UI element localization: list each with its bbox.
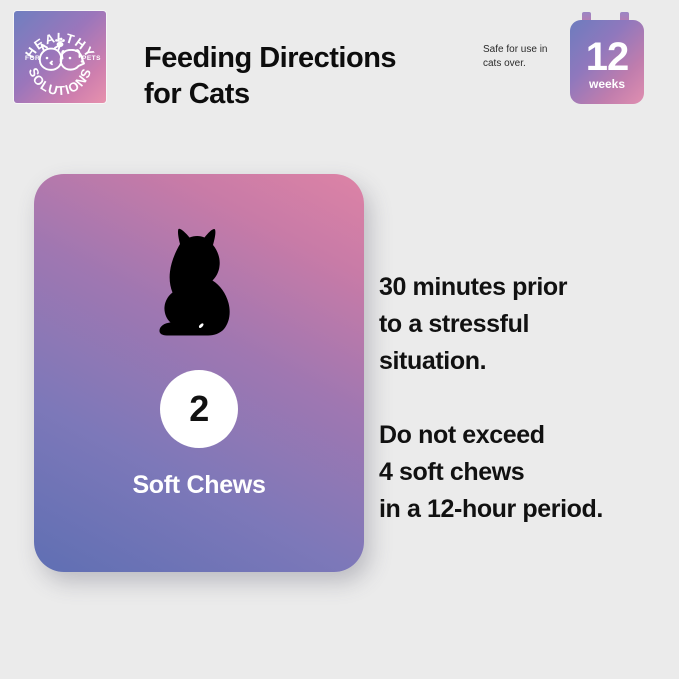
age-badge: 12 weeks [570, 12, 644, 104]
page-header: HEALTHY SOLUTIONS FOR PETS [0, 0, 679, 125]
svg-text:FOR: FOR [25, 55, 40, 62]
cat-silhouette-icon [144, 222, 254, 342]
dose-card: 2 Soft Chews [34, 174, 364, 572]
dose-count: 2 [189, 391, 209, 427]
age-badge-number: 12 [586, 38, 629, 76]
dose-count-bubble: 2 [160, 370, 238, 448]
age-badge-unit: weeks [589, 77, 625, 91]
dose-unit-label: Soft Chews [132, 470, 265, 500]
svg-text:SOLUTIONS: SOLUTIONS [26, 66, 95, 99]
instructions-panel: 30 minutes prior to a stressful situatio… [379, 244, 671, 553]
instruction-limit: Do not exceed 4 soft chews in a 12-hour … [379, 417, 671, 528]
healthy-solutions-logo-icon: HEALTHY SOLUTIONS FOR PETS [14, 11, 106, 103]
instruction-timing: 30 minutes prior to a stressful situatio… [379, 269, 671, 380]
dose-card-content: 2 Soft Chews [34, 174, 364, 572]
safe-use-note: Safe for use in cats over. [483, 43, 575, 71]
brand-logo[interactable]: HEALTHY SOLUTIONS FOR PETS [14, 11, 106, 103]
calendar-icon: 12 weeks [570, 20, 644, 104]
page-title: Feeding Directions for Cats [144, 40, 474, 112]
svg-text:PETS: PETS [82, 55, 101, 62]
